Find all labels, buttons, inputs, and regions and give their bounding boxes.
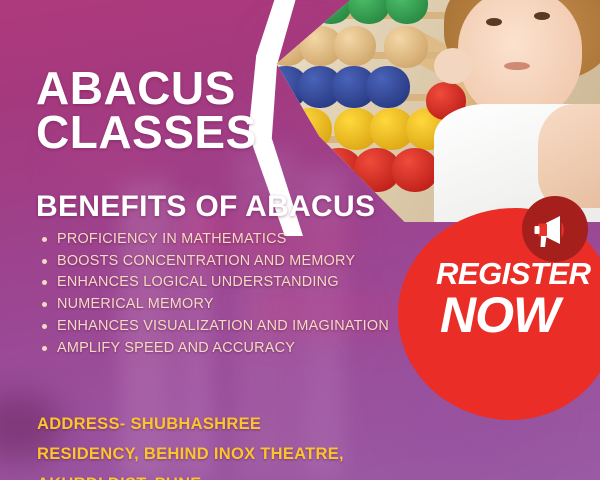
- benefits-heading: BENEFITS OF ABACUS: [36, 190, 375, 224]
- abacus-bead: [392, 148, 438, 192]
- child-eye: [486, 18, 502, 26]
- megaphone-icon: [522, 196, 588, 262]
- list-item: ENHANCES LOGICAL UNDERSTANDING: [40, 272, 389, 294]
- benefit-text: NUMERICAL MEMORY: [57, 296, 214, 312]
- benefit-text: ENHANCES LOGICAL UNDERSTANDING: [57, 274, 339, 290]
- bullet-icon: [42, 237, 47, 242]
- list-item: BOOSTS CONCENTRATION AND MEMORY: [40, 251, 389, 273]
- bullet-icon: [42, 324, 47, 329]
- child-hand: [434, 48, 472, 84]
- child-mouth: [504, 62, 530, 70]
- register-now-label[interactable]: REGISTER NOW: [436, 258, 590, 340]
- poster-title: ABACUS CLASSES: [36, 66, 257, 154]
- benefits-list: PROFICIENCY IN MATHEMATICS BOOSTS CONCEN…: [40, 229, 389, 359]
- list-item: PROFICIENCY IN MATHEMATICS: [40, 229, 389, 251]
- address-line-3: AKURDI DIST. PUNE: [37, 469, 344, 480]
- bullet-icon: [42, 346, 47, 351]
- bullet-icon: [42, 259, 47, 264]
- child-hand: [538, 104, 600, 208]
- title-line-2: CLASSES: [36, 110, 257, 154]
- abacus-bead: [334, 26, 376, 66]
- list-item: NUMERICAL MEMORY: [40, 294, 389, 316]
- address-block: ADDRESS- SHUBHASHREE RESIDENCY, BEHIND I…: [37, 409, 344, 480]
- bullet-icon: [42, 302, 47, 307]
- title-line-1: ABACUS: [36, 66, 257, 110]
- abacus-classes-poster: ABACUS CLASSES BENEFITS OF ABACUS PROFIC…: [0, 0, 600, 480]
- benefit-text: AMPLIFY SPEED AND ACCURACY: [57, 340, 295, 356]
- abacus-bead: [366, 66, 410, 108]
- list-item: ENHANCES VISUALIZATION AND IMAGINATION: [40, 316, 389, 338]
- list-item: AMPLIFY SPEED AND ACCURACY: [40, 338, 389, 360]
- abacus-bead: [384, 26, 428, 68]
- benefit-text: ENHANCES VISUALIZATION AND IMAGINATION: [57, 318, 389, 334]
- address-line-1: ADDRESS- SHUBHASHREE: [37, 409, 344, 439]
- register-word: REGISTER: [436, 258, 590, 289]
- child-eye: [534, 12, 550, 20]
- address-line-2: RESIDENCY, BEHIND INOX THEATRE,: [37, 439, 344, 469]
- benefit-text: BOOSTS CONCENTRATION AND MEMORY: [57, 253, 355, 269]
- benefit-text: PROFICIENCY IN MATHEMATICS: [57, 231, 287, 247]
- now-word: NOW: [440, 290, 590, 340]
- bullet-icon: [42, 280, 47, 285]
- child-abacus-photo: [248, 0, 600, 222]
- abacus-bead: [288, 108, 332, 150]
